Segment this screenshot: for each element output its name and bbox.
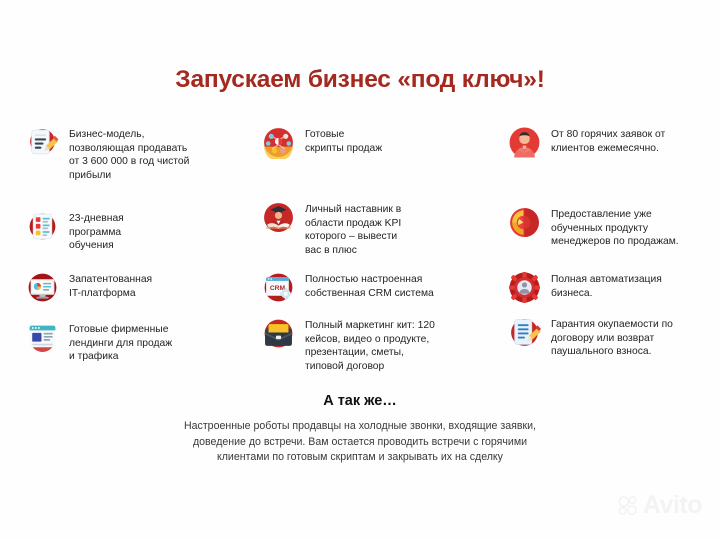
feature-text: Гарантия окупаемости по договору или воз… (551, 316, 673, 359)
feature-item: Полная автоматизация бизнеса. (508, 271, 662, 304)
feature-text: Бизнес-модель, позволяющая продавать от … (69, 126, 189, 182)
avito-dots-icon (618, 495, 639, 516)
feature-text: От 80 горячих заявок от клиентов ежемеся… (551, 126, 665, 155)
feature-text: 23-дневная программа обучения (69, 210, 124, 253)
avito-wordmark: Avito (643, 493, 702, 518)
feature-text: Полная автоматизация бизнеса. (551, 271, 662, 300)
feature-item: CRM Полностью настроенная собственная CR… (262, 271, 434, 304)
briefcase-kit-icon (262, 317, 295, 350)
mentor-graduate-icon (262, 201, 295, 234)
feature-item: Личный наставник в области продаж KPI ко… (262, 201, 401, 257)
landing-page-icon (26, 321, 59, 354)
features-grid: Бизнес-модель, позволяющая продавать от … (0, 126, 720, 376)
page-title: Запускаем бизнес «под ключ»! (0, 66, 720, 94)
also-section-title: А так же… (0, 393, 720, 409)
network-scripts-icon (262, 126, 295, 159)
crm-window-icon: CRM (262, 271, 295, 304)
feature-text: Полностью настроенная собственная CRM си… (305, 271, 434, 300)
feature-item: Предоставление уже обученных продукту ме… (508, 206, 679, 249)
gear-automation-icon (508, 271, 541, 304)
feature-item: Бизнес-модель, позволяющая продавать от … (26, 126, 189, 182)
feature-item: 23-дневная программа обучения (26, 210, 124, 253)
feature-item: Гарантия окупаемости по договору или воз… (508, 316, 673, 359)
feature-item: Полный маркетинг кит: 120 кейсов, видео … (262, 317, 435, 373)
feature-text: Готовые скрипты продаж (305, 126, 382, 155)
feature-item: Запатентованная IT-платформа (26, 271, 152, 304)
feature-text: Готовые фирменные лендинги для продаж и … (69, 321, 172, 364)
desktop-monitor-icon (26, 271, 59, 304)
feature-text: Предоставление уже обученных продукту ме… (551, 206, 679, 249)
also-section-body: Настроенные роботы продавцы на холодные … (150, 419, 570, 466)
feature-item: От 80 горячих заявок от клиентов ежемеся… (508, 126, 665, 159)
feature-text: Личный наставник в области продаж KPI ко… (305, 201, 401, 257)
feature-text: Запатентованная IT-платформа (69, 271, 152, 300)
feature-text: Полный маркетинг кит: 120 кейсов, видео … (305, 317, 435, 373)
avito-watermark: Avito (618, 493, 702, 518)
poster-canvas: Запускаем бизнес «под ключ»! (0, 0, 720, 540)
calendar-checklist-icon (26, 210, 59, 243)
client-person-icon (508, 126, 541, 159)
pie-chart-icon (508, 206, 541, 239)
feature-item: Готовые фирменные лендинги для продаж и … (26, 321, 172, 364)
contract-document-icon (508, 316, 541, 349)
document-pencil-icon (26, 126, 59, 159)
feature-item: Готовые скрипты продаж (262, 126, 382, 159)
